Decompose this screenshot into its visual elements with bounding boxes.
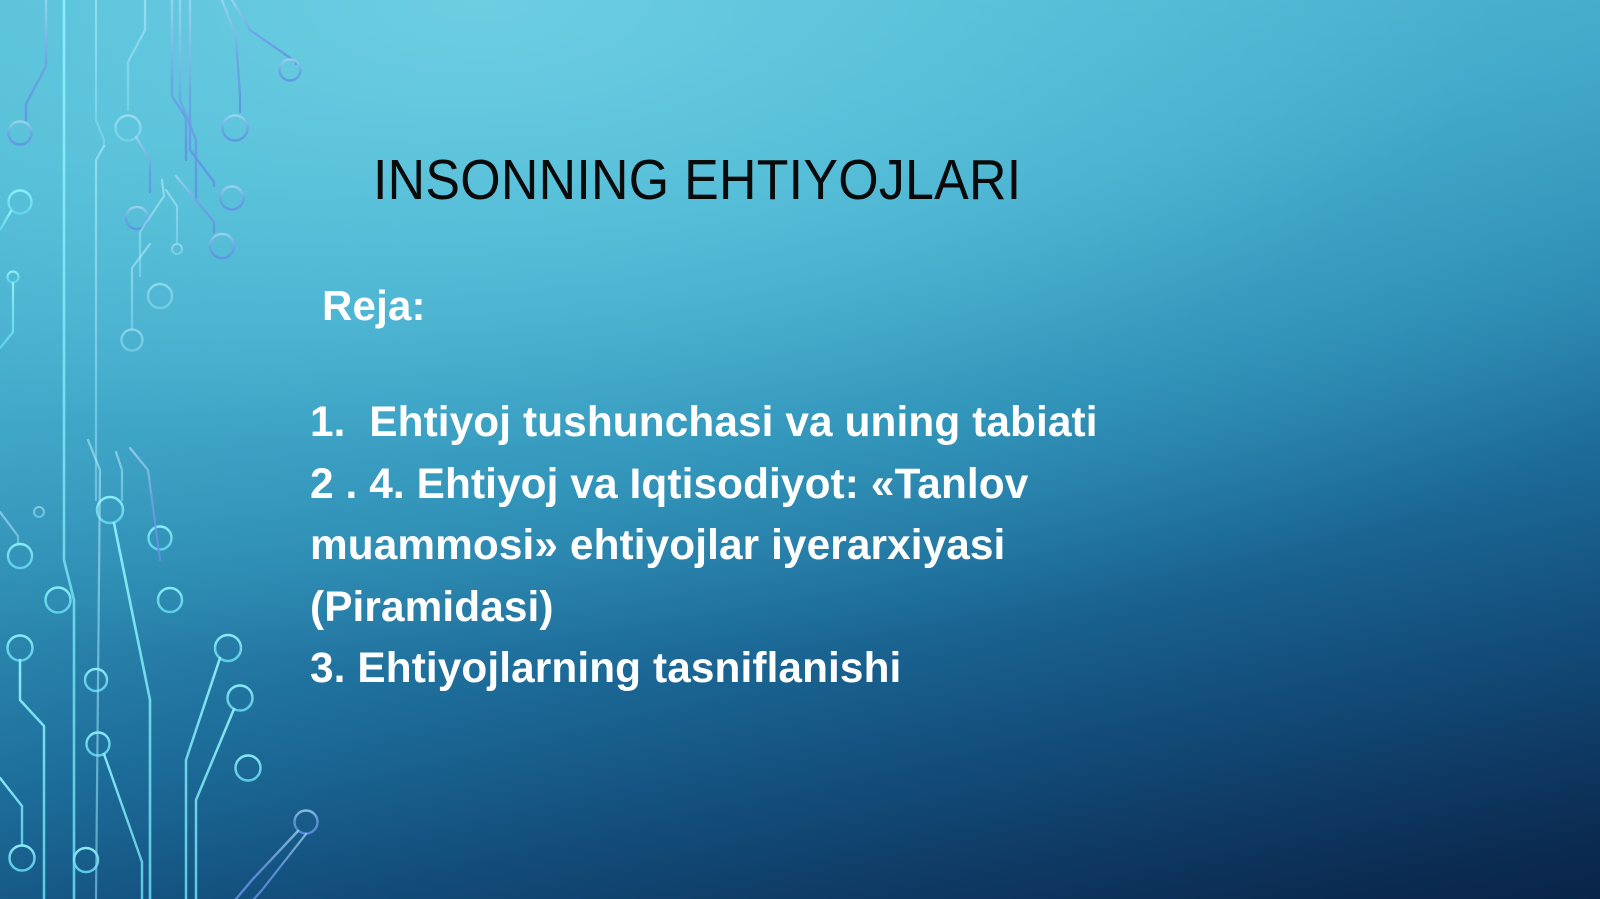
agenda-list: 1. Ehtiyoj tushunchasi va uning tabiati … bbox=[310, 392, 1370, 699]
agenda-line: muammosi» ehtiyojlar iyerarxiyasi bbox=[310, 515, 1354, 576]
agenda-heading: Reja: bbox=[310, 282, 1370, 330]
body-spacer bbox=[310, 330, 1370, 392]
circuit-board-decoration bbox=[0, 0, 340, 899]
agenda-line: 1. Ehtiyoj tushunchasi va uning tabiati bbox=[310, 392, 1354, 453]
slide-title: INSONNING EHTIYOJLARI bbox=[373, 150, 1374, 212]
agenda-line: 3. Ehtiyojlarning tasniflanishi bbox=[310, 638, 1354, 699]
agenda-line: 2 . 4. Ehtiyoj va Iqtisodiyot: «Tanlov bbox=[310, 454, 1354, 515]
slide-body: Reja: 1. Ehtiyoj tushunchasi va uning ta… bbox=[310, 282, 1370, 700]
agenda-line: (Piramidasi) bbox=[310, 577, 1354, 638]
presentation-slide: INSONNING EHTIYOJLARI Reja: 1. Ehtiyoj t… bbox=[0, 0, 1600, 899]
